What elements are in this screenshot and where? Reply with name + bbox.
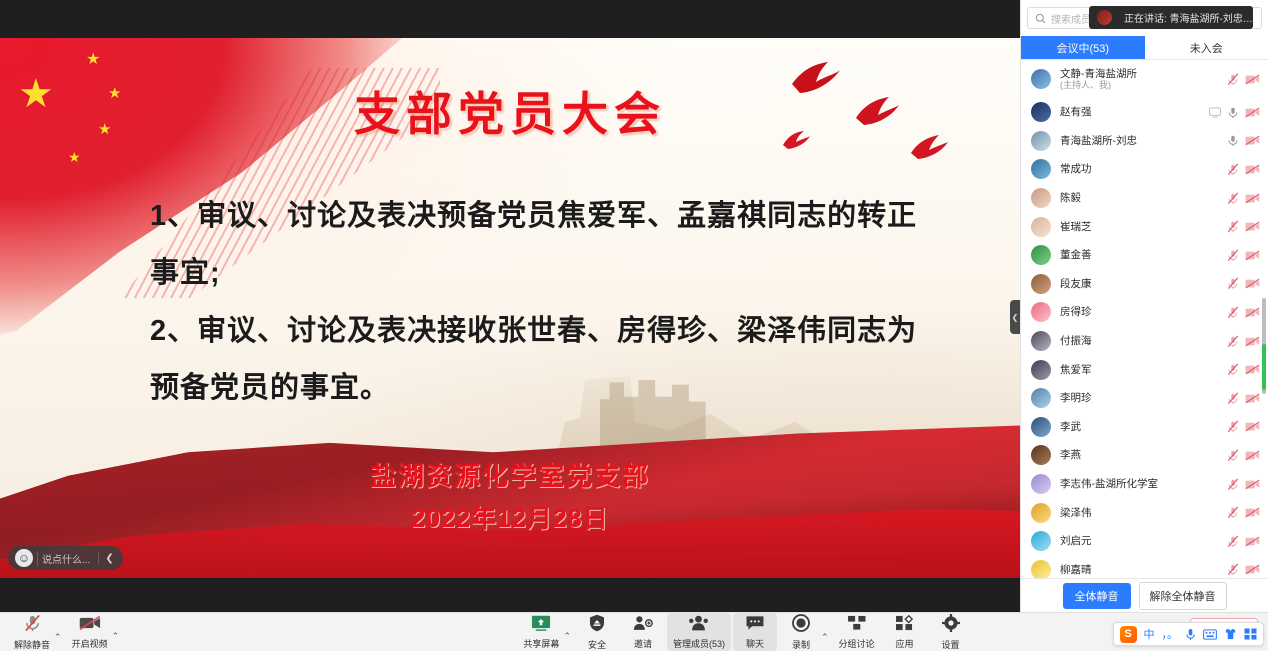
presentation-slide: ★ ★ ★ ★ ★ 支部党员大会 1、审议、讨论及表 — [0, 38, 1020, 578]
participant-status-icons — [1227, 306, 1260, 319]
search-placeholder: 搜索成员 — [1051, 11, 1091, 26]
microphone-muted-icon — [1227, 449, 1239, 462]
participant-name: 段友康 — [1060, 278, 1218, 290]
microphone-muted-icon — [1227, 335, 1239, 348]
breakout-rooms-icon — [847, 615, 867, 636]
toolbar-button-breakout-rooms[interactable]: 分组讨论 — [833, 613, 881, 651]
participant-status-icons — [1227, 363, 1260, 376]
toolbar-button-label: 管理成员(53) — [673, 637, 725, 650]
participant-row[interactable]: 董金善 — [1021, 241, 1268, 270]
slide-date: 2022年12月28日 — [370, 499, 650, 535]
toolbar-button-label: 应用 — [896, 637, 914, 650]
toolbar-item-wrapper: 聊天 — [733, 613, 777, 651]
meeting-toolbar: 解除静音⌃开启视频⌃ 共享屏幕⌃安全邀请管理成员(53)聊天录制⌃分组讨论应用设… — [0, 612, 1268, 651]
participant-name: 青海盐湖所-刘忠 — [1060, 135, 1218, 147]
share-screen-icon — [531, 615, 551, 636]
participants-tabs: 会议中(53) 未入会 — [1021, 36, 1268, 60]
microphone-muted-icon — [1227, 563, 1239, 576]
avatar — [1031, 445, 1051, 465]
toolbar-item-wrapper: 解除静音⌃ — [8, 612, 64, 651]
participant-status-icons — [1227, 478, 1260, 491]
participant-status-icons — [1209, 106, 1260, 119]
toolbar-item-wrapper: 开启视频⌃ — [66, 613, 122, 651]
toolbox-icon[interactable] — [1244, 628, 1257, 640]
camera-off-icon — [1245, 135, 1260, 146]
avatar — [1031, 360, 1051, 380]
camera-off-icon — [1245, 250, 1260, 261]
floating-chat-input-bar[interactable]: ☺ 说点什么... ❮ — [8, 546, 123, 570]
participant-row[interactable]: 赵有强 — [1021, 98, 1268, 127]
shield-icon — [589, 614, 605, 637]
avatar — [1031, 531, 1051, 551]
toolbar-button-gear[interactable]: 设置 — [929, 612, 973, 651]
participant-status-icons — [1227, 335, 1260, 348]
unmute-all-button[interactable]: 解除全体静音 — [1139, 582, 1227, 610]
chevron-up-icon[interactable]: ⌃ — [821, 632, 829, 643]
microphone-muted-icon — [1227, 192, 1239, 205]
toolbar-button-share-screen[interactable]: 共享屏幕 — [517, 613, 565, 651]
tab-not-joined[interactable]: 未入会 — [1145, 36, 1268, 59]
participant-status-icons — [1227, 192, 1260, 205]
participant-row[interactable]: 青海盐湖所-刘忠 — [1021, 127, 1268, 156]
participant-name: 董金善 — [1060, 249, 1218, 261]
toolbar-button-label: 分组讨论 — [839, 637, 875, 650]
participant-name: 李武 — [1060, 421, 1218, 433]
toolbar-item-wrapper: 邀请 — [621, 613, 665, 651]
toolbar-button-label: 设置 — [942, 638, 960, 651]
record-icon — [792, 614, 810, 637]
participants-panel-header: 搜索成员 正在讲话: 青海盐湖所-刘忠… — [1021, 0, 1268, 36]
microphone-muted-icon — [1227, 392, 1239, 405]
microphone-muted-icon — [1227, 163, 1239, 176]
ime-punctuation-toggle[interactable]: ，。 — [1162, 626, 1179, 642]
participant-row[interactable]: 梁泽伟 — [1021, 498, 1268, 527]
participant-name: 刘启元 — [1060, 535, 1218, 547]
camera-off-icon — [1245, 164, 1260, 175]
stage-bottom-letterbox — [0, 578, 1020, 612]
speaker-avatar — [1097, 10, 1112, 25]
microphone-muted-icon — [1227, 478, 1239, 491]
avatar — [1031, 159, 1051, 179]
chevron-left-icon[interactable]: ❮ — [98, 553, 119, 564]
avatar — [1031, 474, 1051, 494]
microphone-icon — [1227, 106, 1239, 119]
participant-role: (主持人、我) — [1060, 80, 1218, 90]
microphone-muted-icon — [1227, 277, 1239, 290]
camera-off-icon — [1245, 393, 1260, 404]
participant-status-icons — [1227, 277, 1260, 290]
participant-name: 赵有强 — [1060, 106, 1200, 118]
smile-icon[interactable]: ☺ — [15, 549, 33, 567]
participant-name: 李燕 — [1060, 449, 1218, 461]
participant-status-icons — [1227, 73, 1260, 86]
avatar — [1031, 302, 1051, 322]
toolbar-button-label: 安全 — [588, 638, 606, 651]
camera-off-icon — [1245, 421, 1260, 432]
search-icon — [1035, 13, 1046, 24]
toolbar-item-wrapper: 设置 — [929, 612, 973, 651]
participant-status-icons — [1227, 420, 1260, 433]
microphone-muted-icon — [1227, 220, 1239, 233]
participant-row[interactable]: 李燕 — [1021, 441, 1268, 470]
mute-all-button[interactable]: 全体静音 — [1063, 583, 1131, 609]
participant-name: 梁泽伟 — [1060, 507, 1218, 519]
participant-row[interactable]: 柳嘉晴 — [1021, 556, 1268, 579]
keyboard-icon[interactable] — [1203, 629, 1217, 640]
toolbar-button-shield[interactable]: 安全 — [575, 612, 619, 651]
camera-off-icon — [1245, 107, 1260, 118]
participant-status-icons — [1227, 249, 1260, 262]
shared-screen-stage: ★ ★ ★ ★ ★ 支部党员大会 1、审议、讨论及表 — [0, 0, 1020, 612]
chevron-up-icon[interactable]: ⌃ — [112, 631, 120, 642]
chat-bubble-icon — [745, 615, 765, 636]
participants-panel: 搜索成员 正在讲话: 青海盐湖所-刘忠… 会议中(53) 未入会 文静-青海盐湖… — [1020, 0, 1268, 612]
camera-off-icon — [1245, 278, 1260, 289]
participant-status-icons — [1227, 506, 1260, 519]
microphone-muted-icon — [1227, 73, 1239, 86]
microphone-icon[interactable] — [1185, 628, 1196, 641]
toolbar-item-wrapper: 共享屏幕⌃ — [517, 613, 573, 651]
microphone-muted-icon — [1227, 506, 1239, 519]
toolbar-button-label: 邀请 — [634, 637, 652, 650]
toolbar-button-microphone-muted[interactable]: 解除静音 — [8, 612, 56, 651]
toolbar-item-wrapper: 分组讨论 — [833, 613, 881, 651]
slide-agenda-list: 1、审议、讨论及表决预备党员焦爱军、孟嘉祺同志的转正事宜; 2、审议、讨论及表决… — [150, 188, 940, 418]
panel-collapse-handle[interactable]: ❮ — [1010, 300, 1020, 334]
participant-name: 文静-青海盐湖所(主持人、我) — [1060, 68, 1218, 90]
participants-scrollbar[interactable] — [1262, 298, 1266, 394]
participant-row[interactable]: 文静-青海盐湖所(主持人、我) — [1021, 60, 1268, 98]
chevron-up-icon[interactable]: ⌃ — [563, 631, 571, 642]
toolbar-item-wrapper: 安全 — [575, 612, 619, 651]
camera-off-icon — [1245, 536, 1260, 547]
chevron-up-icon[interactable]: ⌃ — [54, 632, 62, 643]
toolbar-button-label: 开启视频 — [72, 637, 108, 650]
invite-person-icon — [633, 615, 653, 636]
camera-off-icon — [1245, 364, 1260, 375]
participant-name: 柳嘉晴 — [1060, 564, 1218, 576]
participant-status-icons — [1227, 535, 1260, 548]
participant-status-icons — [1227, 134, 1260, 147]
avatar — [1031, 560, 1051, 578]
participant-name: 李明珍 — [1060, 392, 1218, 404]
slide-signature: 盐湖资源化学室党支部 2022年12月28日 — [370, 456, 650, 535]
participant-row[interactable]: 李明珍 — [1021, 384, 1268, 413]
avatar — [1031, 331, 1051, 351]
active-speaker-label: 正在讲话: 青海盐湖所-刘忠… — [1124, 10, 1253, 25]
participant-name: 付振海 — [1060, 335, 1218, 347]
microphone-muted-icon — [1227, 420, 1239, 433]
participant-status-icons — [1227, 163, 1260, 176]
ime-mode-toggle[interactable]: 中 — [1144, 626, 1155, 642]
participant-status-icons — [1227, 220, 1260, 233]
camera-off-icon — [1245, 74, 1260, 85]
apps-icon — [895, 615, 914, 636]
participant-row[interactable]: 刘启元 — [1021, 527, 1268, 556]
active-speaker-badge: 正在讲话: 青海盐湖所-刘忠… — [1089, 6, 1253, 29]
participant-status-icons — [1227, 392, 1260, 405]
participant-row[interactable]: 李志伟-盐湖所化学室 — [1021, 470, 1268, 499]
toolbar-item-wrapper: 管理成员(53) — [667, 613, 731, 651]
participant-name: 焦爱军 — [1060, 364, 1218, 376]
microphone-icon — [1227, 134, 1239, 147]
avatar — [1031, 417, 1051, 437]
toolbar-button-invite-person[interactable]: 邀请 — [621, 613, 665, 651]
participant-row[interactable]: 陈毅 — [1021, 184, 1268, 213]
participant-name: 房得珍 — [1060, 306, 1218, 318]
camera-off-icon — [1245, 479, 1260, 490]
screen-share-icon — [1209, 107, 1221, 118]
skin-icon[interactable] — [1224, 628, 1237, 640]
toolbar-button-participants[interactable]: 管理成员(53) — [667, 613, 731, 651]
participant-name: 崔瑞芝 — [1060, 221, 1218, 233]
toolbar-button-label: 共享屏幕 — [523, 637, 559, 650]
sogou-ime-bar[interactable]: S 中 ，。 — [1113, 622, 1265, 646]
camera-off-icon — [1245, 193, 1260, 204]
participant-row[interactable]: 焦爱军 — [1021, 355, 1268, 384]
avatar — [1031, 217, 1051, 237]
toolbar-center-group: 共享屏幕⌃安全邀请管理成员(53)聊天录制⌃分组讨论应用设置 — [300, 612, 1190, 651]
slide-agenda-item: 2、审议、讨论及表决接收张世春、房得珍、梁泽伟同志为预备党员的事宜。 — [150, 303, 940, 416]
camera-off-icon — [1245, 307, 1260, 318]
toolbar-button-label: 聊天 — [746, 637, 764, 650]
toolbar-button-record[interactable]: 录制 — [779, 612, 823, 651]
camera-off-icon — [1245, 564, 1260, 575]
participant-row[interactable]: 李武 — [1021, 413, 1268, 442]
participants-panel-footer: 全体静音 解除全体静音 — [1021, 578, 1268, 612]
sogou-logo-icon[interactable]: S — [1120, 626, 1137, 643]
avatar — [1031, 131, 1051, 151]
tab-in-meeting[interactable]: 会议中(53) — [1021, 36, 1145, 59]
scrollbar-thumb[interactable] — [1262, 344, 1266, 390]
meeting-window: ★ ★ ★ ★ ★ 支部党员大会 1、审议、讨论及表 — [0, 0, 1268, 651]
toolbar-item-wrapper: 应用 — [883, 613, 927, 651]
microphone-muted-icon — [24, 614, 41, 637]
avatar — [1031, 245, 1051, 265]
avatar — [1031, 274, 1051, 294]
toolbar-button-chat-bubble[interactable]: 聊天 — [733, 613, 777, 651]
participant-status-icons — [1227, 563, 1260, 576]
camera-off-icon — [1245, 507, 1260, 518]
participants-list[interactable]: 文静-青海盐湖所(主持人、我)赵有强青海盐湖所-刘忠常成功陈毅崔瑞芝董金善段友康… — [1021, 60, 1268, 578]
slide-content: 支部党员大会 1、审议、讨论及表决预备党员焦爱军、孟嘉祺同志的转正事宜; 2、审… — [0, 38, 1020, 578]
toolbar-button-label: 解除静音 — [14, 638, 50, 651]
toolbar-left-group: 解除静音⌃开启视频⌃ — [0, 612, 300, 651]
participant-row[interactable]: 付振海 — [1021, 327, 1268, 356]
toolbar-button-camera-off[interactable]: 开启视频 — [66, 613, 114, 651]
microphone-muted-icon — [1227, 306, 1239, 319]
toolbar-item-wrapper: 录制⌃ — [779, 612, 831, 651]
participant-name: 李志伟-盐湖所化学室 — [1060, 478, 1218, 490]
avatar — [1031, 503, 1051, 523]
camera-off-icon — [1245, 336, 1260, 347]
slide-title: 支部党员大会 — [0, 78, 1020, 144]
avatar — [1031, 69, 1051, 89]
participant-name: 陈毅 — [1060, 192, 1218, 204]
microphone-muted-icon — [1227, 363, 1239, 376]
avatar — [1031, 102, 1051, 122]
camera-off-icon — [1245, 450, 1260, 461]
participants-icon — [688, 615, 709, 636]
participant-row[interactable]: 常成功 — [1021, 155, 1268, 184]
microphone-muted-icon — [1227, 535, 1239, 548]
participant-row[interactable]: 房得珍 — [1021, 298, 1268, 327]
slide-organization: 盐湖资源化学室党支部 — [370, 456, 650, 493]
camera-off-icon — [79, 615, 101, 636]
toolbar-button-label: 录制 — [792, 638, 810, 651]
chat-input-placeholder[interactable]: 说点什么... — [37, 551, 98, 566]
stage-top-letterbox — [0, 0, 1020, 38]
avatar — [1031, 388, 1051, 408]
gear-icon — [942, 614, 960, 637]
slide-agenda-item: 1、审议、讨论及表决预备党员焦爱军、孟嘉祺同志的转正事宜; — [150, 188, 940, 301]
avatar — [1031, 188, 1051, 208]
participant-status-icons — [1227, 449, 1260, 462]
microphone-muted-icon — [1227, 249, 1239, 262]
participant-row[interactable]: 段友康 — [1021, 270, 1268, 299]
camera-off-icon — [1245, 221, 1260, 232]
participant-row[interactable]: 崔瑞芝 — [1021, 212, 1268, 241]
toolbar-button-apps[interactable]: 应用 — [883, 613, 927, 651]
participant-name: 常成功 — [1060, 163, 1218, 175]
